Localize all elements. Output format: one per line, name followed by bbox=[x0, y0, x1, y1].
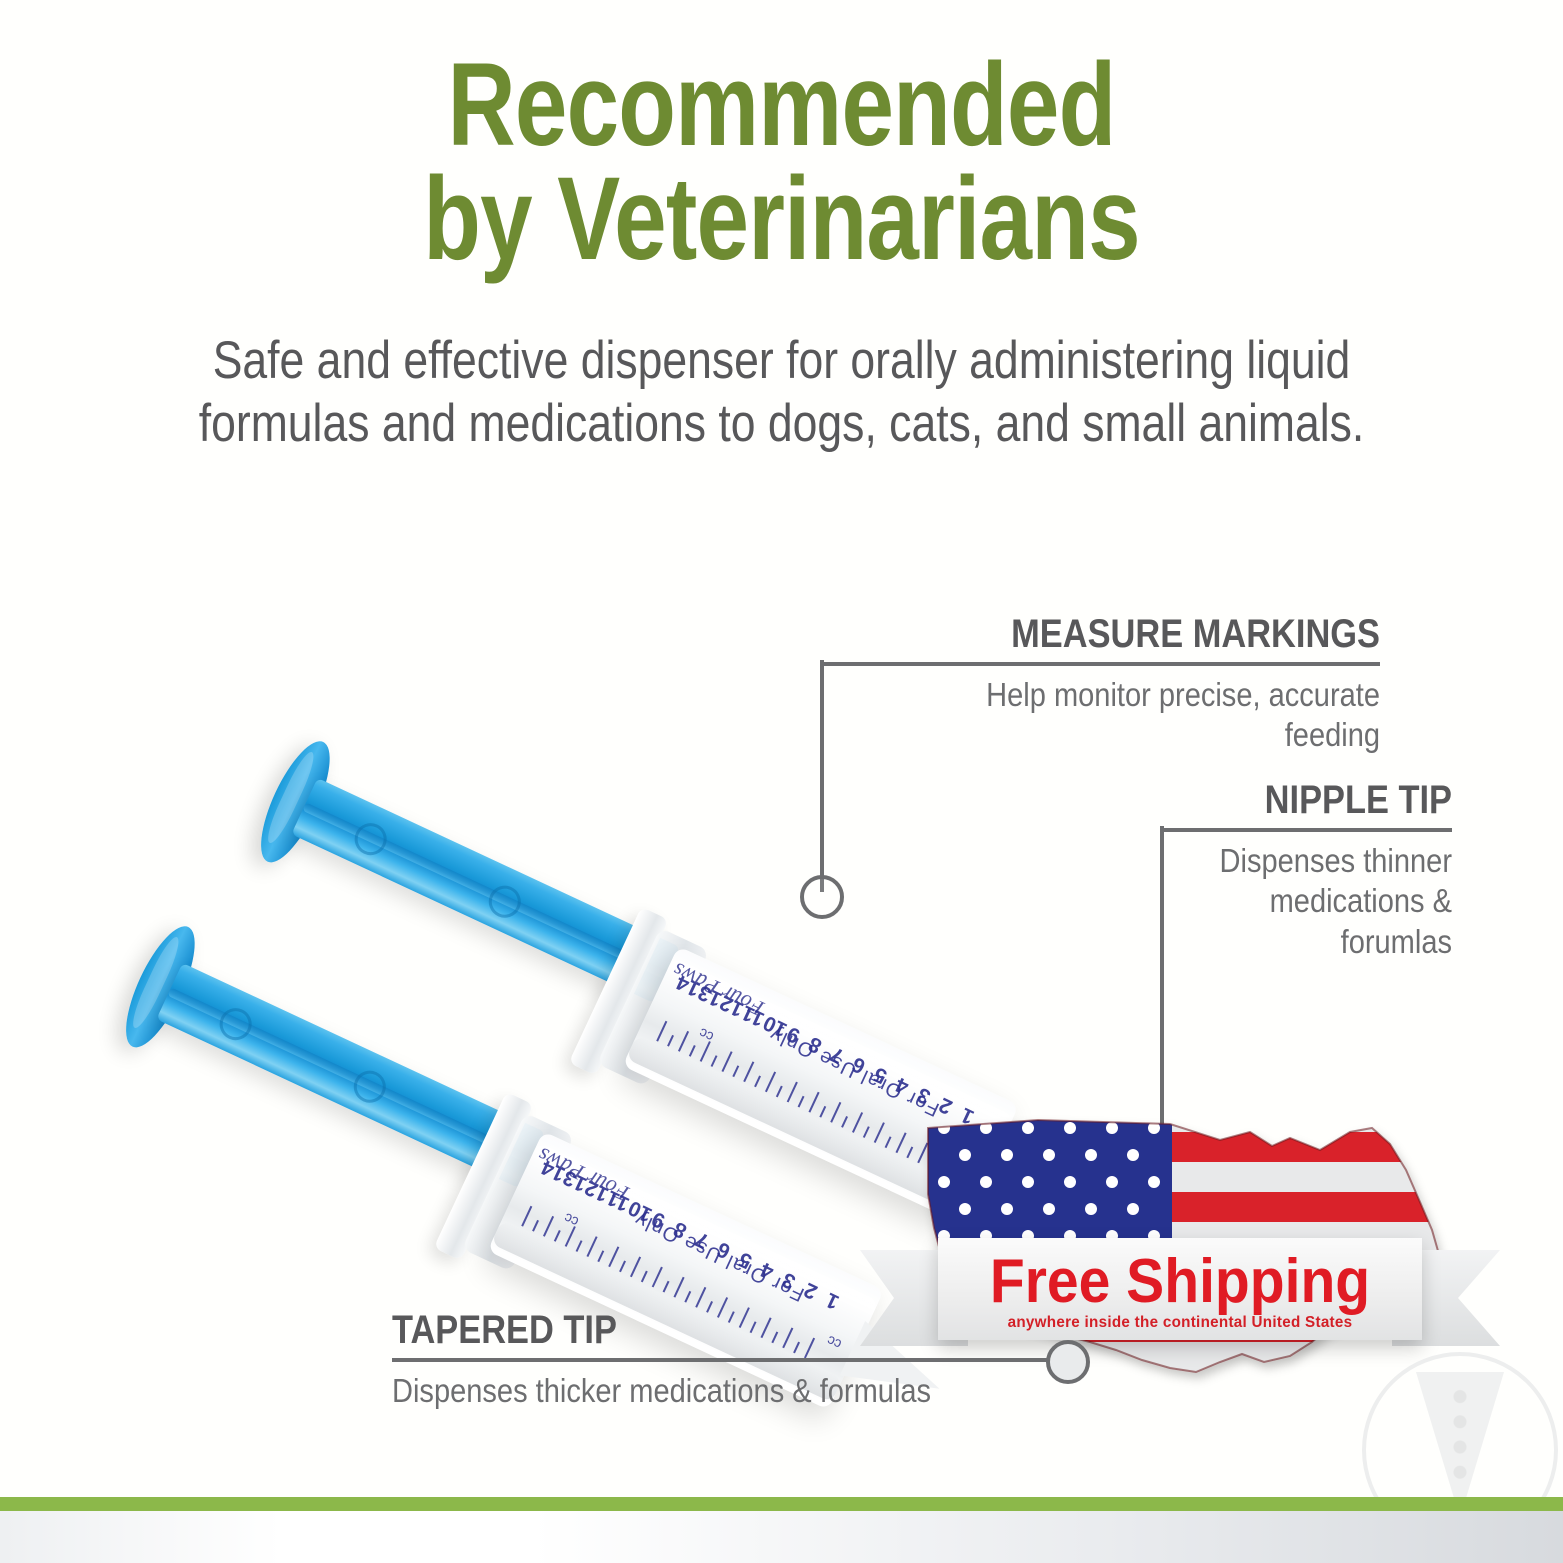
unit-label-upper: cc bbox=[696, 1025, 715, 1045]
free-shipping-headline: Free Shipping bbox=[957, 1246, 1402, 1317]
footer-green-band bbox=[0, 1497, 1563, 1511]
callout-nipple-tip-body: Dispenses thinner medications & forumlas bbox=[1195, 841, 1452, 962]
callout-tapered-tip-rule bbox=[392, 1358, 1082, 1362]
unit-label-lower: cc bbox=[561, 1210, 580, 1230]
leader-line-measure-markings bbox=[820, 660, 824, 892]
callout-tapered-tip-title: TAPERED TIP bbox=[392, 1308, 985, 1353]
callout-nipple-tip-rule bbox=[1160, 828, 1452, 832]
callout-tapered-tip: TAPERED TIP Dispenses thicker medication… bbox=[392, 1308, 1082, 1411]
page-subtitle: Safe and effective dispenser for orally … bbox=[125, 330, 1438, 455]
callout-measure-markings-title: MEASURE MARKINGS bbox=[898, 612, 1380, 657]
callout-measure-markings-rule bbox=[820, 662, 1380, 666]
footer-gray-strip bbox=[0, 1511, 1563, 1563]
marker-dot-measure-markings bbox=[800, 875, 844, 919]
callout-nipple-tip-title: NIPPLE TIP bbox=[1201, 778, 1452, 823]
callout-measure-markings: MEASURE MARKINGS Help monitor precise, a… bbox=[820, 612, 1380, 756]
seal-snake-coils bbox=[1440, 1384, 1480, 1510]
marker-dot-tapered-tip bbox=[1046, 1340, 1090, 1384]
page-title: Recommended by Veterinarians bbox=[156, 48, 1406, 277]
infographic-page: Recommended by Veterinarians Safe and ef… bbox=[0, 0, 1563, 1563]
callout-measure-markings-body: Help monitor precise, accurate feeding bbox=[887, 675, 1380, 756]
callout-tapered-tip-body: Dispenses thicker medications & formulas bbox=[392, 1371, 999, 1411]
callout-nipple-tip: NIPPLE TIP Dispenses thinner medications… bbox=[1160, 778, 1452, 962]
